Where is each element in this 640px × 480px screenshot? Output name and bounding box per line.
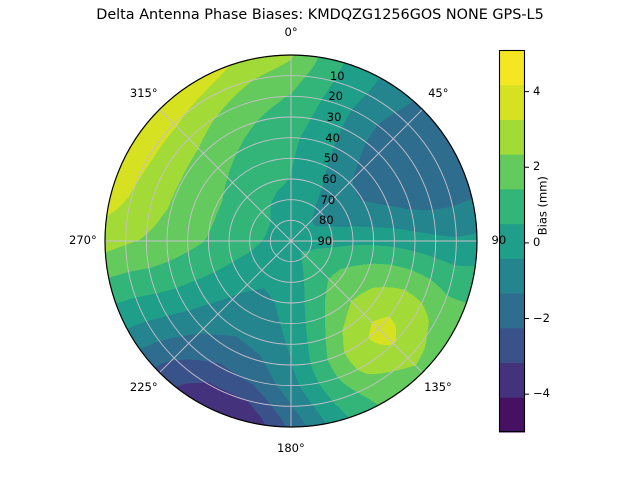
theta-tick-label-225: 225° — [130, 382, 158, 394]
theta-tick-label-315: 315° — [130, 88, 158, 100]
radial-tick-label-30: 30 — [327, 112, 342, 124]
colorbar-tick-label-1: −2 — [533, 313, 550, 325]
colorbar-tick-label-3: 2 — [533, 161, 540, 173]
radial-tick-label-40: 40 — [325, 133, 340, 145]
radial-tick-label-70: 70 — [321, 195, 336, 207]
theta-tick-label-135: 135° — [424, 382, 452, 394]
radial-tick-label-60: 60 — [322, 174, 337, 186]
theta-tick-label-45: 45° — [428, 88, 448, 100]
colorbar-tick-label-0: −4 — [533, 388, 550, 400]
radial-tick-label-80: 80 — [319, 215, 334, 227]
theta-tick-label-0: 0° — [285, 27, 298, 39]
colorbar-tick-label-4: 4 — [533, 86, 540, 98]
theta-tick-label-90: 90 — [492, 235, 507, 247]
radial-tick-label-50: 50 — [324, 153, 339, 165]
theta-tick-label-180: 180° — [277, 443, 305, 455]
radial-tick-label-20: 20 — [328, 91, 343, 103]
colorbar-axis-label: Bias (mm) — [537, 176, 549, 235]
figure-canvas-area: Delta Antenna Phase Biases: KMDQZG1256GO… — [0, 0, 640, 480]
radial-tick-label-90: 90 — [318, 236, 333, 248]
radial-tick-label-10: 10 — [330, 71, 345, 83]
colorbar-tick-label-2: 0 — [533, 237, 540, 249]
theta-tick-label-270: 270° — [69, 235, 97, 247]
page-title: Delta Antenna Phase Biases: KMDQZG1256GO… — [0, 8, 640, 22]
